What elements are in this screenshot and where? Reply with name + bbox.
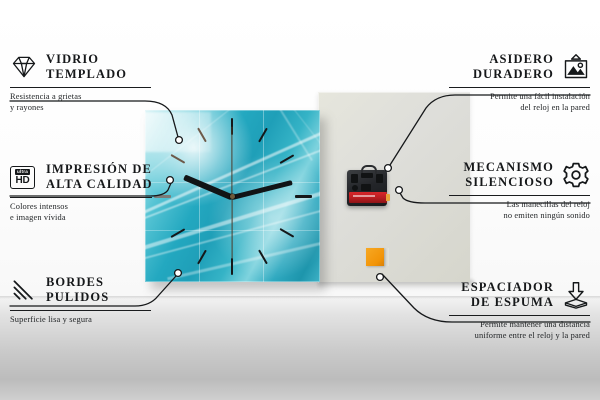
clock-pattern-streak: [167, 235, 320, 280]
feature-title: IMPRESIÓN DE ALTA CALIDAD: [46, 162, 153, 192]
feature-heading-row: ultra HD IMPRESIÓN DE ALTA CALIDAD: [10, 162, 170, 192]
clock-hour-hand: [183, 175, 233, 200]
mechanism-detail: [376, 174, 383, 183]
feature-description: Colores intensos e imagen vívida: [10, 202, 170, 223]
feature-title-line2: TEMPLADO: [46, 67, 127, 82]
feature-desc-line2: no emiten ningún sonido: [438, 211, 590, 222]
mechanism-detail: [352, 185, 358, 191]
hanging-frame-icon: [562, 53, 590, 81]
clock-product: [145, 110, 320, 282]
feature-heading-row: ESPACIADOR DE ESPUMA: [430, 280, 590, 310]
feature-title: BORDES PULIDOS: [46, 275, 109, 305]
feature-title-line1: ESPACIADOR: [461, 280, 554, 295]
feature-title: ASIDERO DURADERO: [473, 52, 554, 82]
feature-desc-line1: Superficie lisa y segura: [10, 315, 162, 326]
feature-title-line2: DURADERO: [473, 67, 554, 82]
feature-title-line2: ALTA CALIDAD: [46, 177, 153, 192]
feature-underline: [449, 315, 590, 316]
feature-description: Permite una fácil instalación del reloj …: [438, 92, 590, 113]
feature-heading-row: ASIDERO DURADERO: [438, 52, 590, 82]
arrow-down-onto-pad-icon: [562, 281, 590, 309]
battery-positive-terminal: [386, 194, 390, 201]
feature-underline: [10, 310, 151, 311]
diagonal-lines-icon: [10, 276, 38, 304]
feature-desc-line2: del reloj en la pared: [438, 103, 590, 114]
clock-second-hand: [231, 197, 232, 259]
feature-mecanismo-silencioso: MECANISMO SILENCIOSO Las manecillas del …: [438, 160, 590, 221]
clock-tick-10: [170, 154, 185, 163]
feature-desc-line1: Permite mantener una distancia: [430, 320, 590, 331]
feature-title-line1: MECANISMO: [464, 160, 554, 175]
feature-desc-line1: Permite una fácil instalación: [438, 92, 590, 103]
feature-description: Superficie lisa y segura: [10, 315, 162, 326]
clock-glass-reflection-line: [145, 182, 320, 183]
ultra-hd-icon: ultra HD: [10, 163, 38, 191]
foam-spacer-side: [384, 248, 389, 266]
feature-underline: [449, 195, 590, 196]
mechanism-detail: [351, 174, 358, 183]
feature-heading-row: VIDRIO TEMPLADO: [10, 52, 162, 82]
feature-bordes-pulidos: BORDES PULIDOS Superficie lisa y segura: [10, 275, 162, 326]
feature-title-line2: PULIDOS: [46, 290, 109, 305]
feature-title: ESPACIADOR DE ESPUMA: [461, 280, 554, 310]
infographic-canvas: VIDRIO TEMPLADO Resistencia a grietas y …: [0, 0, 600, 400]
feature-title: VIDRIO TEMPLADO: [46, 52, 127, 82]
feature-title-line2: DE ESPUMA: [461, 295, 554, 310]
feature-underline: [10, 197, 152, 198]
feature-description: Permite mantener una distancia uniforme …: [430, 320, 590, 341]
feature-asidero-duradero: ASIDERO DURADERO Permite una fácil insta…: [438, 52, 590, 113]
gear-icon: [562, 161, 590, 189]
battery-label-band: [353, 195, 375, 197]
clock-glass-face: [145, 110, 320, 282]
feature-title-line1: BORDES: [46, 275, 109, 290]
ultra-hd-badge: ultra HD: [10, 166, 35, 189]
feature-title-line1: ASIDERO: [473, 52, 554, 67]
ultra-hd-badge-main: HD: [15, 175, 29, 186]
feature-title-line1: IMPRESIÓN DE: [46, 162, 153, 177]
clock-second-hand-tail: [231, 127, 232, 197]
clock-tick-6: [231, 258, 233, 275]
mechanism-detail: [361, 184, 371, 191]
feature-desc-line2: e imagen vívida: [10, 213, 170, 224]
foam-spacer: [366, 248, 384, 266]
feature-desc-line2: y rayones: [10, 103, 162, 114]
feature-desc-line2: uniforme entre el reloj y la pared: [430, 331, 590, 342]
clock-center-pin: [230, 194, 235, 199]
feature-vidrio-templado: VIDRIO TEMPLADO Resistencia a grietas y …: [10, 52, 162, 113]
feature-underline: [449, 87, 590, 88]
clock-mechanism: [347, 170, 387, 206]
feature-heading-row: BORDES PULIDOS: [10, 275, 162, 305]
clock-battery: [349, 192, 387, 203]
mechanism-detail: [361, 173, 373, 178]
feature-espaciador-de-espuma: ESPACIADOR DE ESPUMA Permite mantener un…: [430, 280, 590, 341]
clock-tick-3: [295, 195, 312, 198]
feature-description: Las manecillas del reloj no emiten ningú…: [438, 200, 590, 221]
feature-impresion-alta-calidad: ultra HD IMPRESIÓN DE ALTA CALIDAD Color…: [10, 162, 170, 223]
feature-heading-row: MECANISMO SILENCIOSO: [438, 160, 590, 190]
feature-desc-line1: Las manecillas del reloj: [438, 200, 590, 211]
feature-desc-line1: Resistencia a grietas: [10, 92, 162, 103]
feature-desc-line1: Colores intensos: [10, 202, 170, 213]
feature-title-line2: SILENCIOSO: [464, 175, 554, 190]
feature-description: Resistencia a grietas y rayones: [10, 92, 162, 113]
diamond-icon: [10, 53, 38, 81]
feature-underline: [10, 87, 151, 88]
feature-title-line1: VIDRIO: [46, 52, 127, 67]
feature-title: MECANISMO SILENCIOSO: [464, 160, 554, 190]
